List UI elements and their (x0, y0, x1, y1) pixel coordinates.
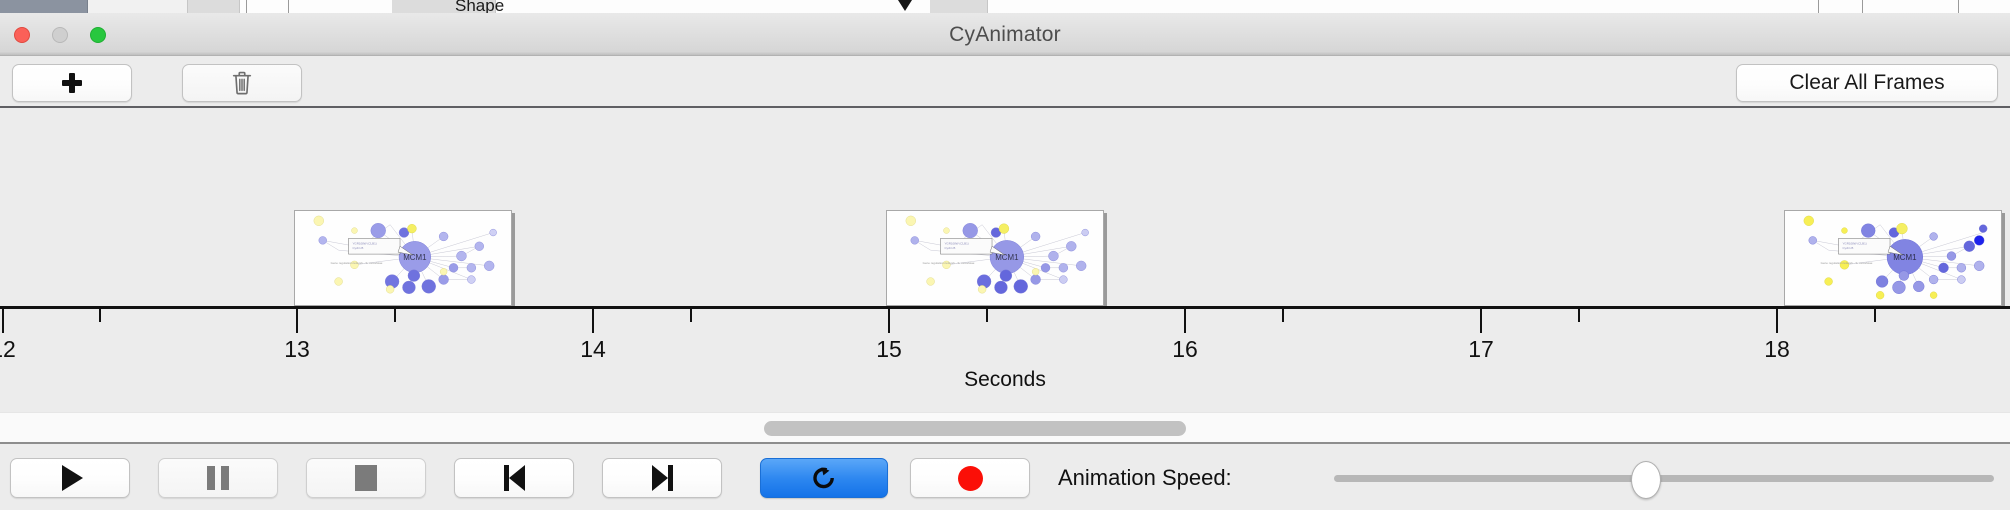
axis-tick-label: 14 (580, 336, 606, 363)
bg-chip (930, 0, 988, 13)
clear-all-frames-label: Clear All Frames (1789, 71, 1944, 95)
axis-tick (1874, 309, 1876, 322)
frame-thumbnail[interactable]: MCM1 (886, 210, 1104, 306)
axis-line (0, 306, 2010, 309)
axis-tick (888, 309, 890, 333)
loop-button[interactable] (760, 458, 888, 498)
axis-tick (2, 309, 4, 333)
network-graph: MCM1 (295, 211, 511, 305)
skip-forward-icon (652, 465, 673, 491)
axis-tick (1184, 309, 1186, 333)
axis-tick (1776, 309, 1778, 333)
record-button[interactable] (910, 458, 1030, 498)
frames-strip: MCM1 (0, 110, 2010, 306)
window-title: CyAnimator (0, 13, 2010, 56)
bg-chip (0, 0, 88, 13)
pause-button[interactable] (158, 458, 278, 498)
svg-text:Gene regulation network - S. c: Gene regulation network - S. cerevisiae (1821, 261, 1873, 265)
title-bar[interactable]: CyAnimator (0, 13, 2010, 56)
axis-tick-label: 17 (1468, 336, 1494, 363)
stop-button[interactable] (306, 458, 426, 498)
svg-text:Cyclin B: Cyclin B (944, 246, 955, 250)
trash-icon (231, 70, 253, 96)
delete-frame-button[interactable] (182, 64, 302, 102)
axis-tick-label: 12 (0, 336, 16, 363)
axis-tick (1480, 309, 1482, 333)
network-graph: MCM1 (1785, 211, 2001, 305)
slider-thumb[interactable] (1631, 461, 1661, 499)
axis-tick (986, 309, 988, 322)
loop-icon (810, 464, 838, 492)
bg-tick (1862, 0, 1863, 13)
add-frame-button[interactable] (12, 64, 132, 102)
svg-text:MCM1: MCM1 (1893, 253, 1916, 262)
toolbar: Clear All Frames (0, 56, 2010, 108)
svg-text:YGR108W (CLB1): YGR108W (CLB1) (352, 241, 376, 245)
axis-tick-label: 15 (876, 336, 902, 363)
svg-text:Gene regulation network - S. c: Gene regulation network - S. cerevisiae (331, 261, 383, 265)
bg-arrow-icon (898, 0, 912, 11)
timeline-axis[interactable]: 12131415161718 Seconds (0, 306, 2010, 410)
timeline-panel[interactable]: MCM1 (0, 110, 2010, 410)
network-graph: MCM1 (887, 211, 1103, 305)
axis-tick-label: 13 (284, 336, 310, 363)
play-button[interactable] (10, 458, 130, 498)
bg-tick (288, 0, 289, 13)
stop-icon (355, 465, 377, 491)
background-window: Shape (0, 0, 2010, 14)
timeline-scrollbar[interactable] (0, 412, 2010, 444)
network-thumbnail: MCM1 (887, 211, 1103, 305)
bg-chip (88, 0, 188, 13)
axis-tick (1578, 309, 1580, 322)
skip-back-icon (504, 465, 525, 491)
svg-text:Gene regulation network - S. c: Gene regulation network - S. cerevisiae (923, 261, 975, 265)
background-window-label: Shape (455, 0, 504, 14)
svg-text:Cyclin B: Cyclin B (1842, 246, 1853, 250)
svg-text:YGR108W (CLB1): YGR108W (CLB1) (1842, 241, 1866, 245)
frame-thumbnail[interactable]: MCM1 (1784, 210, 2002, 306)
record-icon (958, 466, 983, 491)
svg-text:MCM1: MCM1 (403, 253, 426, 262)
play-icon (62, 465, 83, 491)
axis-tick (1282, 309, 1284, 322)
axis-tick (592, 309, 594, 333)
svg-text:MCM1: MCM1 (995, 253, 1018, 262)
network-thumbnail: MCM1 (295, 211, 511, 305)
clear-all-frames-button[interactable]: Clear All Frames (1736, 64, 1998, 102)
axis-tick (99, 309, 101, 322)
plus-icon (61, 72, 83, 94)
animation-speed-slider[interactable] (1334, 458, 1994, 498)
playback-control-bar: Animation Speed: (0, 446, 2010, 510)
svg-text:YGR108W (CLB1): YGR108W (CLB1) (944, 241, 968, 245)
axis-tick (690, 309, 692, 322)
axis-tick-label: 18 (1764, 336, 1790, 363)
frame-thumbnail[interactable]: MCM1 (294, 210, 512, 306)
skip-to-start-button[interactable] (454, 458, 574, 498)
svg-text:Cyclin B: Cyclin B (352, 246, 363, 250)
bg-tick (1818, 0, 1819, 13)
bg-tick (246, 0, 247, 13)
scrollbar-thumb[interactable] (764, 421, 1186, 436)
axis-tick (394, 309, 396, 322)
skip-to-end-button[interactable] (602, 458, 722, 498)
axis-tick (296, 309, 298, 333)
slider-track[interactable] (1334, 475, 1994, 482)
pause-icon (207, 466, 229, 490)
axis-title: Seconds (0, 368, 2010, 392)
bg-tick (1958, 0, 1959, 13)
animation-speed-label: Animation Speed: (1058, 458, 1232, 498)
network-thumbnail: MCM1 (1785, 211, 2001, 305)
bg-chip (188, 0, 240, 13)
cyanimator-window: Shape CyAnimator Clear All Frames (0, 0, 2010, 510)
axis-tick-label: 16 (1172, 336, 1198, 363)
